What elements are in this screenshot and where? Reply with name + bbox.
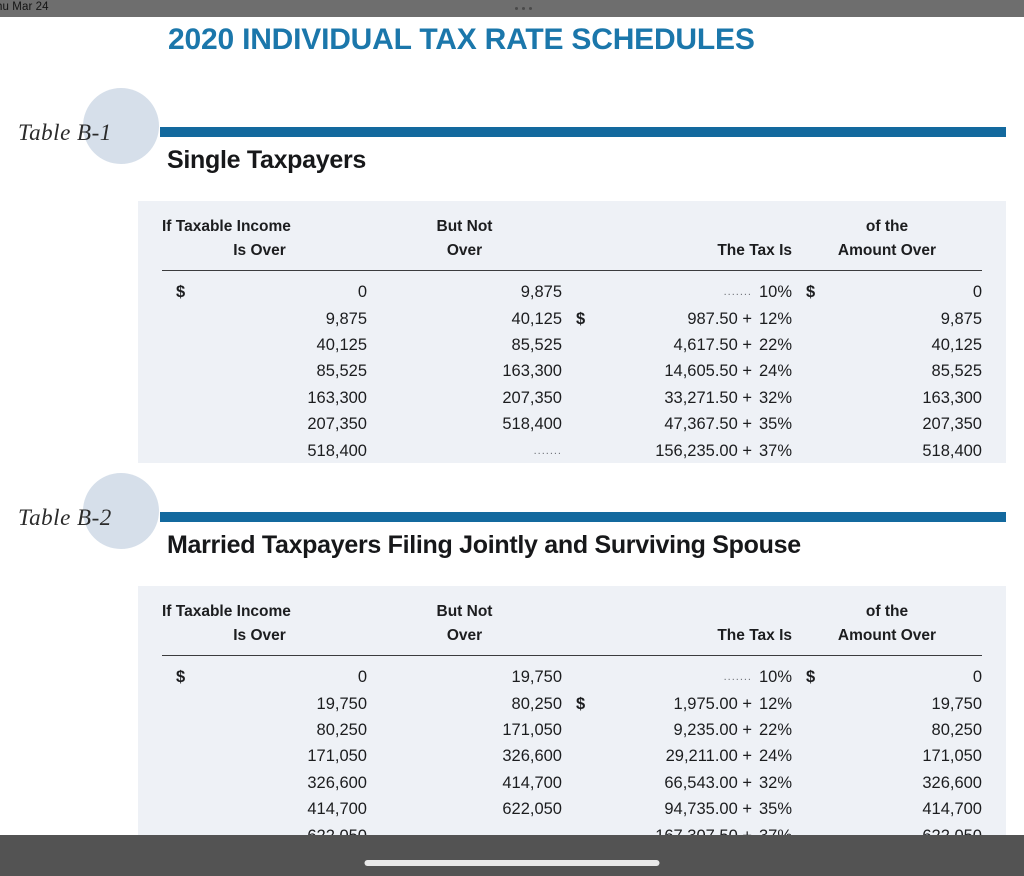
cell-tax-formula: 14,605.50 +24%: [562, 359, 792, 385]
tax-base-amount: 156,235.00 +: [655, 440, 752, 463]
cell-value: 40,125: [512, 310, 562, 328]
cell-tax-formula: .......10%: [562, 665, 792, 691]
tax-base-amount: 29,211.00 +: [666, 745, 752, 768]
tax-base-amount: 94,735.00 +: [664, 798, 752, 821]
cell-value: 207,350: [922, 415, 982, 433]
cell-value: 0: [358, 283, 367, 301]
cell-value: 0: [358, 668, 367, 686]
cell-but-not-over: .......: [367, 438, 562, 464]
accent-rule-b2: [160, 512, 1006, 522]
col-header-line2: Is Over: [162, 239, 367, 263]
cell-value: 326,600: [502, 747, 562, 765]
cell-amount-over: 19,750: [792, 691, 982, 717]
cell-value: 414,700: [307, 800, 367, 818]
table-row: 163,300207,35033,271.50 +32%163,300: [162, 385, 982, 411]
tax-rate-percent: 35%: [752, 798, 792, 821]
col-header-line2: Amount Over: [792, 239, 982, 263]
tax-rate-percent: 24%: [752, 745, 792, 768]
cell-value: 163,300: [922, 389, 982, 407]
dot-3: [529, 7, 532, 10]
cell-income-over: 80,250: [162, 717, 367, 743]
table-header-row: If Taxable Income Is Over But Not Over T…: [162, 215, 982, 267]
col-header-line2: Over: [367, 624, 562, 648]
tax-rate-percent: 12%: [752, 308, 792, 331]
dollar-sign: $: [176, 666, 185, 689]
cell-value: 0: [973, 283, 982, 301]
cell-tax-formula: 47,367.50 +35%: [562, 412, 792, 438]
col-header-line1: of the: [792, 215, 982, 239]
more-options-icon[interactable]: [515, 7, 532, 10]
table-row: $019,750.......10%$0: [162, 665, 982, 691]
cell-tax-formula: $1,975.00 +12%: [562, 691, 792, 717]
table-row: 414,700622,05094,735.00 +35%414,700: [162, 797, 982, 823]
cell-but-not-over: 171,050: [367, 717, 562, 743]
dot-leader: .......: [724, 286, 752, 298]
cell-amount-over: $0: [792, 665, 982, 691]
cell-tax-formula: 94,735.00 +35%: [562, 797, 792, 823]
tax-base-amount: 33,271.50 +: [664, 387, 752, 410]
cell-but-not-over: 40,125: [367, 306, 562, 332]
cell-value: 0: [973, 668, 982, 686]
cell-amount-over: 518,400: [792, 438, 982, 464]
tax-base-amount: 47,367.50 +: [664, 413, 752, 436]
table-label-b2: Table B-2: [18, 505, 112, 531]
cell-income-over: $0: [162, 665, 367, 691]
cell-income-over: 171,050: [162, 744, 367, 770]
cell-but-not-over: 19,750: [367, 665, 562, 691]
header-spacer: [162, 656, 982, 665]
cell-value: 171,050: [922, 747, 982, 765]
status-bar-clock: hu Mar 24: [0, 1, 49, 13]
table-row: 171,050326,60029,211.00 +24%171,050: [162, 744, 982, 770]
table-row: $09,875.......10%$0: [162, 280, 982, 306]
table-body-b2: $019,750.......10%$019,75080,250$1,975.0…: [162, 665, 982, 850]
cell-tax-formula: 29,211.00 +24%: [562, 744, 792, 770]
cell-value: 207,350: [502, 389, 562, 407]
cell-value: 19,750: [317, 695, 367, 713]
table-row: 85,525163,30014,605.50 +24%85,525: [162, 359, 982, 385]
tax-base-amount: 987.50 +: [687, 308, 752, 331]
dollar-sign: $: [176, 281, 185, 304]
cell-value: 19,750: [932, 695, 982, 713]
table-panel-b1: If Taxable Income Is Over But Not Over T…: [138, 201, 1006, 463]
dollar-sign: $: [806, 281, 815, 304]
cell-value: 80,250: [512, 695, 562, 713]
tax-base-amount: 1,975.00 +: [674, 693, 752, 716]
cell-tax-formula: 156,235.00 +37%: [562, 438, 792, 464]
column-header-the-tax-is: The Tax Is: [562, 600, 792, 652]
dollar-sign: $: [576, 693, 585, 716]
tax-rate-percent: 12%: [752, 693, 792, 716]
tax-rate-table-b2: If Taxable Income Is Over But Not Over T…: [162, 600, 982, 850]
column-header-taxable-income: If Taxable Income Is Over: [162, 215, 367, 267]
cell-amount-over: 85,525: [792, 359, 982, 385]
cell-value: 80,250: [317, 721, 367, 739]
tax-rate-table-b1: If Taxable Income Is Over But Not Over T…: [162, 215, 982, 465]
cell-but-not-over: 518,400: [367, 412, 562, 438]
table-heading-b2: Married Taxpayers Filing Jointly and Sur…: [167, 531, 801, 560]
home-indicator[interactable]: [365, 860, 660, 866]
column-header-the-tax-is: The Tax Is: [562, 215, 792, 267]
dollar-sign: $: [576, 308, 585, 331]
cell-tax-formula: 9,235.00 +22%: [562, 717, 792, 743]
tax-rate-percent: 10%: [752, 281, 792, 304]
cell-but-not-over: 9,875: [367, 280, 562, 306]
cell-value: 85,525: [932, 362, 982, 380]
table-row: 207,350518,40047,367.50 +35%207,350: [162, 412, 982, 438]
cell-tax-formula: 4,617.50 +22%: [562, 332, 792, 358]
cell-but-not-over: 80,250: [367, 691, 562, 717]
cell-tax-formula: .......10%: [562, 280, 792, 306]
dot-leader: .......: [724, 671, 752, 683]
cell-amount-over: 207,350: [792, 412, 982, 438]
cell-value: 80,250: [932, 721, 982, 739]
column-header-taxable-income: If Taxable Income Is Over: [162, 600, 367, 652]
cell-income-over: 326,600: [162, 770, 367, 796]
cell-value: 171,050: [307, 747, 367, 765]
tax-base-amount: 66,543.00 +: [664, 772, 752, 795]
cell-amount-over: 9,875: [792, 306, 982, 332]
table-heading-b1: Single Taxpayers: [167, 146, 366, 175]
col-header-line1: But Not: [367, 600, 562, 624]
cell-but-not-over: 326,600: [367, 744, 562, 770]
cell-value: 163,300: [307, 389, 367, 407]
table-header-row: If Taxable Income Is Over But Not Over T…: [162, 600, 982, 652]
table-row: 326,600414,70066,543.00 +32%326,600: [162, 770, 982, 796]
cell-amount-over: 163,300: [792, 385, 982, 411]
header-spacer: [162, 271, 982, 280]
cell-value: 518,400: [502, 415, 562, 433]
tax-rate-percent: 10%: [752, 666, 792, 689]
column-header-but-not-over: But Not Over: [367, 215, 562, 267]
cell-but-not-over: 85,525: [367, 332, 562, 358]
table-row: 518,400.......156,235.00 +37%518,400: [162, 438, 982, 464]
col-header-line1: If Taxable Income: [162, 215, 367, 239]
cell-income-over: 518,400: [162, 438, 367, 464]
table-row: 80,250171,0509,235.00 +22%80,250: [162, 717, 982, 743]
column-header-amount-over: of the Amount Over: [792, 215, 982, 267]
tax-rate-percent: 32%: [752, 387, 792, 410]
cell-income-over: 163,300: [162, 385, 367, 411]
cell-value: 85,525: [317, 362, 367, 380]
status-bar: hu Mar 24: [0, 0, 1024, 17]
cell-income-over: 414,700: [162, 797, 367, 823]
cell-amount-over: 326,600: [792, 770, 982, 796]
dot-1: [515, 7, 518, 10]
document-page: 2020 INDIVIDUAL TAX RATE SCHEDULES Table…: [0, 17, 1024, 835]
cell-value: 19,750: [512, 668, 562, 686]
cell-tax-formula: 33,271.50 +32%: [562, 385, 792, 411]
col-header-line2: Is Over: [162, 624, 367, 648]
cell-income-over: 9,875: [162, 306, 367, 332]
cell-value: 207,350: [307, 415, 367, 433]
col-header-line2: Amount Over: [792, 624, 982, 648]
tax-rate-percent: 32%: [752, 772, 792, 795]
accent-rule-b1: [160, 127, 1006, 137]
cell-value: 326,600: [307, 774, 367, 792]
cell-income-over: $0: [162, 280, 367, 306]
table-body-b1: $09,875.......10%$09,87540,125$987.50 +1…: [162, 280, 982, 465]
cell-value: 40,125: [932, 336, 982, 354]
cell-value: 518,400: [922, 442, 982, 460]
col-header-line1: of the: [792, 600, 982, 624]
cell-income-over: 40,125: [162, 332, 367, 358]
cell-income-over: 19,750: [162, 691, 367, 717]
cell-amount-over: $0: [792, 280, 982, 306]
cell-value: 9,875: [941, 310, 982, 328]
cell-income-over: 207,350: [162, 412, 367, 438]
tax-rate-percent: 37%: [752, 440, 792, 463]
cell-amount-over: 80,250: [792, 717, 982, 743]
page-title: 2020 INDIVIDUAL TAX RATE SCHEDULES: [168, 23, 755, 57]
dot-2: [522, 7, 525, 10]
table-row: 19,75080,250$1,975.00 +12%19,750: [162, 691, 982, 717]
cell-value: 518,400: [307, 442, 367, 460]
tax-rate-percent: 35%: [752, 413, 792, 436]
tax-base-amount: 14,605.50 +: [664, 360, 752, 383]
cell-value: 9,875: [326, 310, 367, 328]
cell-value: 414,700: [502, 774, 562, 792]
cell-but-not-over: 163,300: [367, 359, 562, 385]
column-header-amount-over: of the Amount Over: [792, 600, 982, 652]
dot-leader: .......: [534, 445, 562, 457]
table-row: 40,12585,5254,617.50 +22%40,125: [162, 332, 982, 358]
cell-value: 326,600: [922, 774, 982, 792]
tax-base-amount: 4,617.50 +: [674, 334, 752, 357]
cell-amount-over: 171,050: [792, 744, 982, 770]
cell-tax-formula: 66,543.00 +32%: [562, 770, 792, 796]
bottom-bar: [0, 835, 1024, 876]
table-label-b1: Table B-1: [18, 120, 112, 146]
table-panel-b2: If Taxable Income Is Over But Not Over T…: [138, 586, 1006, 848]
cell-value: 40,125: [317, 336, 367, 354]
cell-value: 622,050: [502, 800, 562, 818]
col-header-line1: But Not: [367, 215, 562, 239]
cell-value: 163,300: [502, 362, 562, 380]
cell-value: 171,050: [502, 721, 562, 739]
cell-value: 9,875: [521, 283, 562, 301]
cell-tax-formula: $987.50 +12%: [562, 306, 792, 332]
tax-rate-percent: 22%: [752, 719, 792, 742]
cell-but-not-over: 622,050: [367, 797, 562, 823]
tax-rate-percent: 22%: [752, 334, 792, 357]
col-header-line1: If Taxable Income: [162, 600, 367, 624]
tax-base-amount: 9,235.00 +: [674, 719, 752, 742]
cell-amount-over: 40,125: [792, 332, 982, 358]
tax-rate-percent: 24%: [752, 360, 792, 383]
cell-value: 414,700: [922, 800, 982, 818]
cell-but-not-over: 414,700: [367, 770, 562, 796]
cell-income-over: 85,525: [162, 359, 367, 385]
cell-amount-over: 414,700: [792, 797, 982, 823]
dollar-sign: $: [806, 666, 815, 689]
col-header-line2: Over: [367, 239, 562, 263]
cell-but-not-over: 207,350: [367, 385, 562, 411]
cell-value: 85,525: [512, 336, 562, 354]
column-header-but-not-over: But Not Over: [367, 600, 562, 652]
table-row: 9,87540,125$987.50 +12%9,875: [162, 306, 982, 332]
